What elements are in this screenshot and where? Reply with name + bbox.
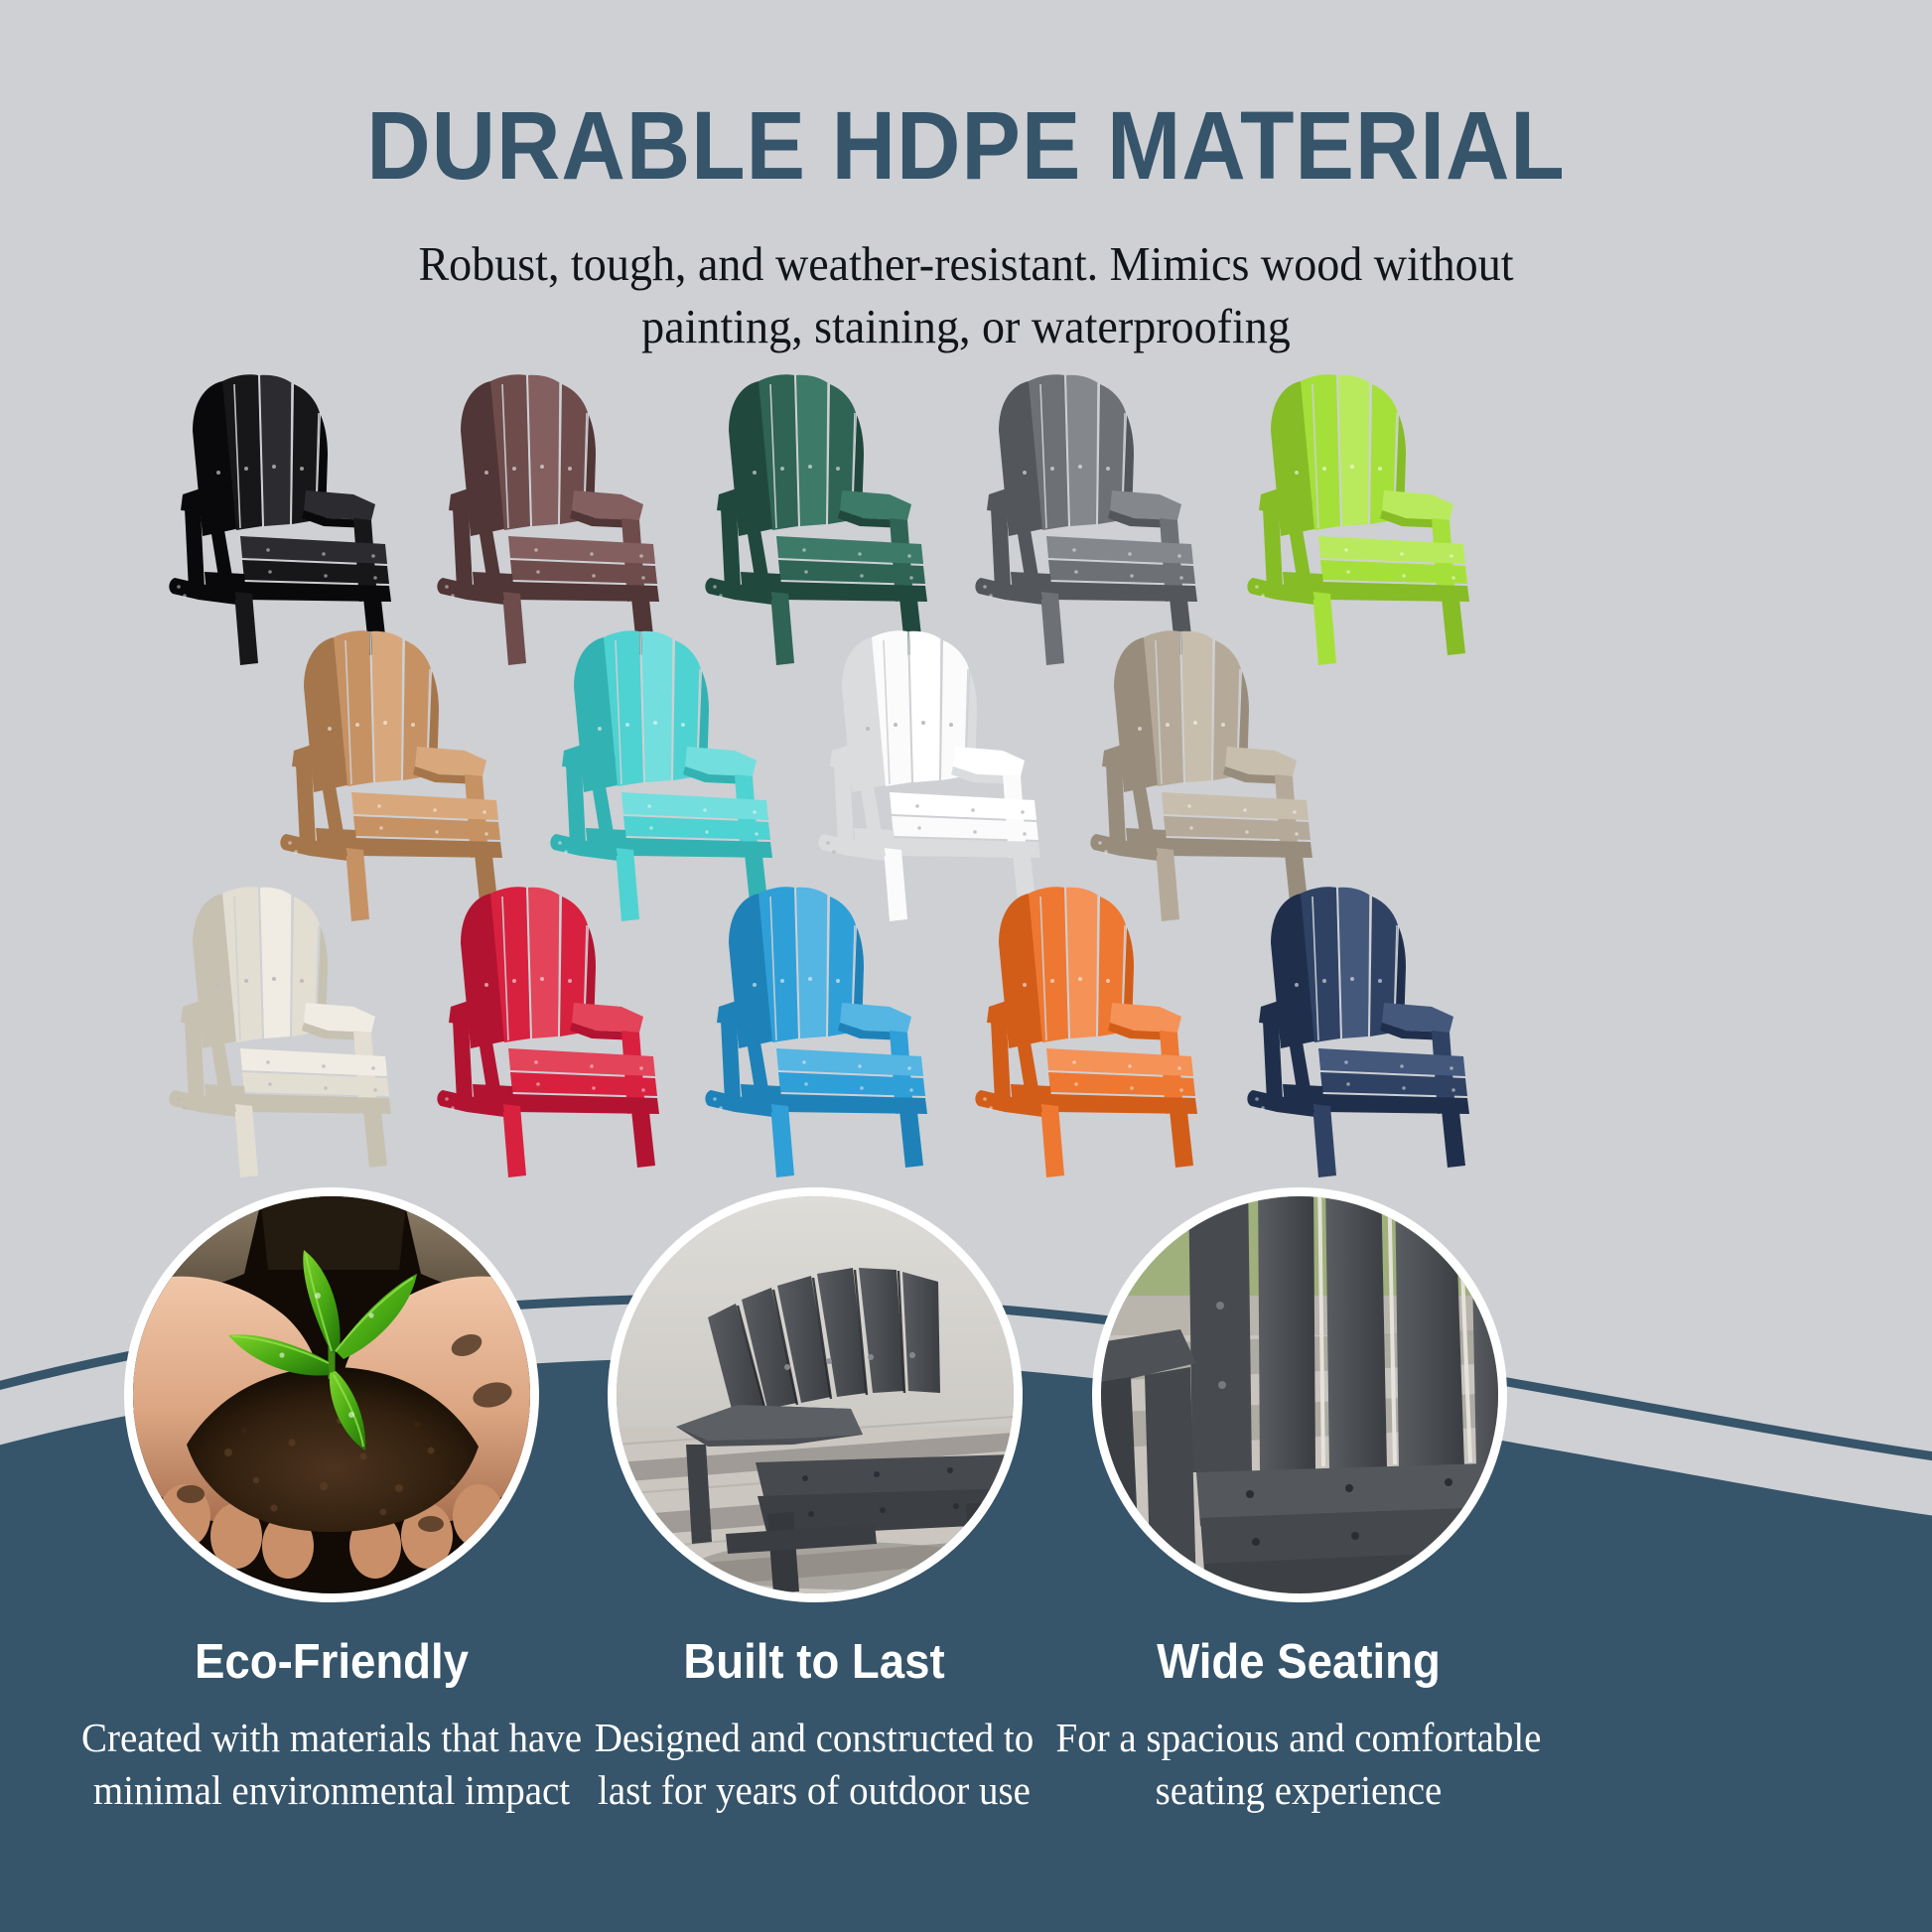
chair-swatch-lime-green[interactable] [1227,369,1497,667]
feature-body-3-line-1: For a spacious and comfortable [1016,1712,1582,1764]
chair-illustration [1227,882,1497,1179]
chair-seat [1162,792,1312,858]
chair-seat [240,536,391,602]
feature-caption-3: Wide Seating For a spacious and comforta… [1001,1636,1596,1817]
chair-turquoise [530,625,800,923]
chair-swatch-navy-blue[interactable] [1227,882,1497,1179]
chair-swatch-black[interactable] [149,369,419,667]
chair-row-2 [0,625,1932,882]
feature-photo-3 [1092,1187,1507,1602]
chair-illustration [417,882,687,1179]
chair-illustration [1227,369,1497,667]
chair-sky-blue [685,882,955,1179]
chair-leg-front-right [631,1110,655,1168]
chair-illustration [798,625,1068,923]
chair-swatch-red[interactable] [417,882,687,1179]
chair-swatch-ivory[interactable] [149,882,419,1179]
chair-leg-front-left [502,1104,526,1177]
feature-title-3: Wide Seating [1022,1636,1576,1690]
chair-seat [776,536,927,602]
chair-leg-front-right [363,1110,387,1168]
chair-seat [1318,536,1469,602]
chair-seat [1046,1048,1197,1114]
chair-seat [776,1048,927,1114]
chair-swatch-gray[interactable] [955,369,1225,667]
chair-gray [955,369,1225,667]
chair-lime-green [1227,369,1497,667]
chair-swatch-turquoise[interactable] [530,625,800,923]
header: DURABLE HDPE MATERIAL Robust, tough, and… [0,0,1932,357]
chair-row-1 [0,369,1932,625]
page-title: DURABLE HDPE MATERIAL [77,97,1855,194]
feature-photo-1 [124,1187,539,1602]
chair-leg-front-right [899,1110,923,1168]
chair-seat [351,792,502,858]
chair-black [149,369,419,667]
chair-swatch-orange[interactable] [955,882,1225,1179]
infographic-page: DURABLE HDPE MATERIAL Robust, tough, and… [0,0,1932,1932]
chair-ivory [149,882,419,1179]
chair-white [798,625,1068,923]
chair-illustration [530,625,800,923]
gray-adirondack-chair-on-patio-photo [617,1196,1014,1593]
chair-illustration [1070,625,1340,923]
chair-swatch-dark-green[interactable] [685,369,955,667]
chair-seat [890,792,1040,858]
chair-seat [621,792,772,858]
chair-seat [240,1048,391,1114]
chair-leg-front-right [1442,1110,1465,1168]
chair-illustration [149,882,419,1179]
hands-holding-seedling-photo [133,1196,530,1593]
chair-seat [1318,1048,1469,1114]
chair-swatch-taupe[interactable] [1070,625,1340,923]
chair-seat [1046,536,1197,602]
chair-orange [955,882,1225,1179]
chair-red [417,882,687,1179]
chair-leg-front-left [770,1104,794,1177]
page-subtitle-line-1: Robust, tough, and weather-resistant. Mi… [58,233,1873,296]
chair-illustration [417,369,687,667]
chair-swatch-white[interactable] [798,625,1068,923]
chair-dark-green [685,369,955,667]
chair-swatch-brown[interactable] [417,369,687,667]
chair-taupe [1070,625,1340,923]
chair-back-slats-closeup-photo [1101,1196,1498,1593]
chair-leg-front-left [1040,1104,1064,1177]
feature-body-3: For a spacious and comfortable seating e… [1016,1712,1582,1818]
chair-illustration [149,369,419,667]
feature-photo-2 [608,1187,1023,1602]
chair-row-3 [0,882,1932,1138]
chair-leg-front-left [1312,1104,1336,1177]
chair-illustration [260,625,530,923]
chair-illustration [955,882,1225,1179]
chair-seat [508,1048,659,1114]
chair-illustration [955,369,1225,667]
chair-leg-front-right [1170,1110,1193,1168]
chair-seat [508,536,659,602]
page-subtitle-line-2: painting, staining, or waterproofing [58,296,1873,358]
feature-body-3-line-2: seating experience [1016,1764,1582,1817]
chair-camel-tan [260,625,530,923]
feature-photo-row [0,1187,1932,1604]
page-subtitle: Robust, tough, and weather-resistant. Mi… [58,233,1873,357]
chair-swatch-sky-blue[interactable] [685,882,955,1179]
chair-illustration [685,369,955,667]
chair-color-grid [0,369,1932,1138]
chair-swatch-camel-tan[interactable] [260,625,530,923]
chair-illustration [685,882,955,1179]
chair-navy-blue [1227,882,1497,1179]
chair-leg-front-left [234,1104,258,1177]
chair-brown [417,369,687,667]
